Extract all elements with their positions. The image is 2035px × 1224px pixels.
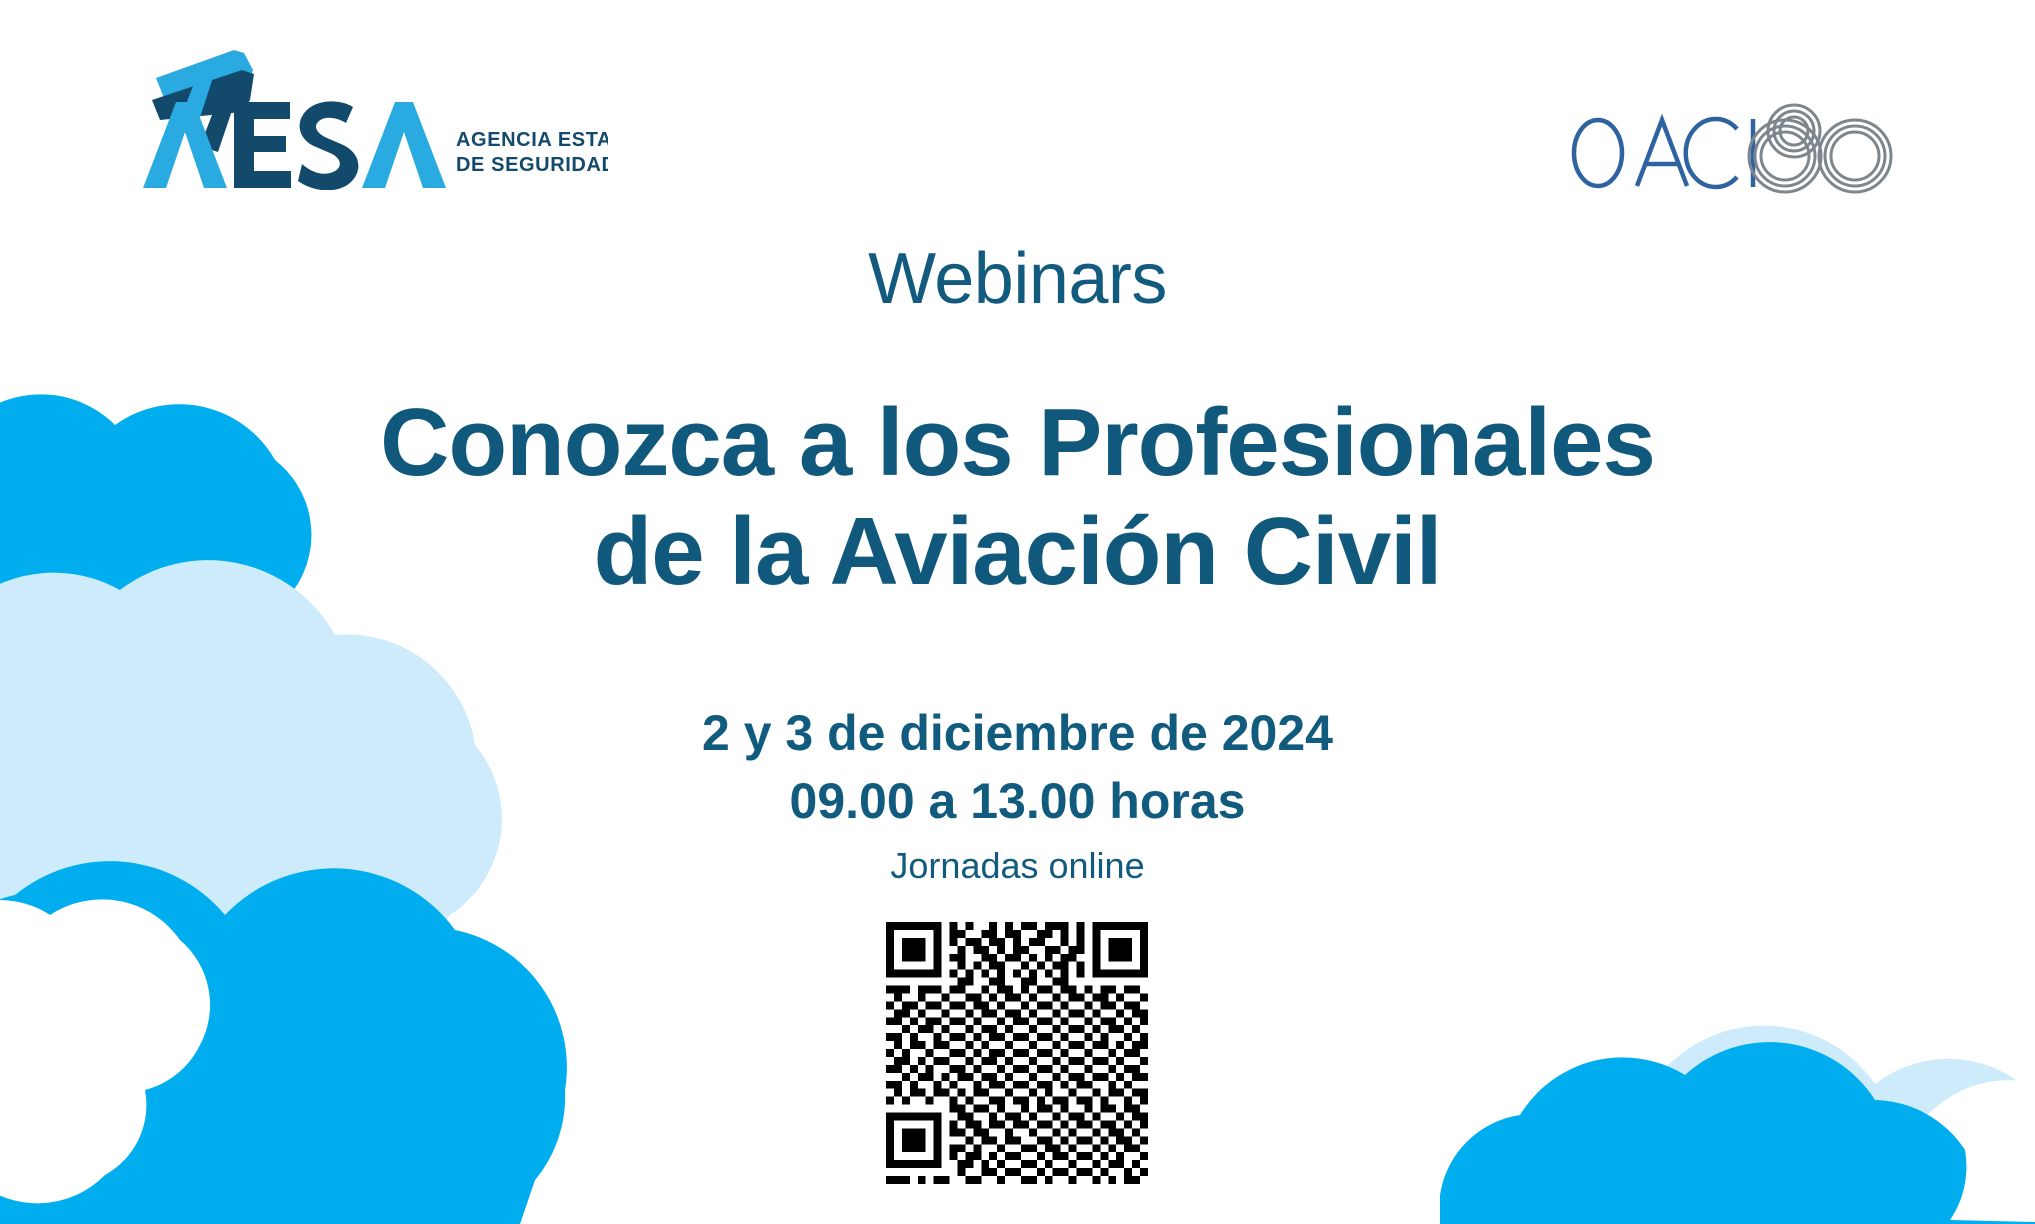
webinar-poster: AGENCIA ESTATAL DE SEGURIDAD AÉREA Webin… bbox=[0, 0, 2035, 1224]
page-title: Conozca a los Profesionales de la Aviaci… bbox=[0, 388, 2035, 607]
event-time: 09.00 a 13.00 horas bbox=[0, 768, 2035, 836]
aesa-tagline-line1: AGENCIA ESTATAL bbox=[456, 129, 608, 151]
page-title-line2: de la Aviación Civil bbox=[0, 497, 2035, 606]
event-schedule: 2 y 3 de diciembre de 2024 09.00 a 13.00… bbox=[0, 700, 2035, 835]
aesa-logo: AGENCIA ESTATAL DE SEGURIDAD AÉREA bbox=[138, 40, 608, 190]
cloud-right-blue bbox=[1440, 1042, 2035, 1224]
eyebrow-webinars: Webinars bbox=[0, 243, 2035, 315]
cloud-right-white bbox=[1897, 1080, 2035, 1224]
aesa-wordmark bbox=[143, 101, 446, 190]
oaci-80-anniversary-icon bbox=[1749, 105, 1891, 192]
cloud-left-white bbox=[0, 899, 210, 1224]
cloud-right-pale bbox=[1624, 1026, 2035, 1224]
event-date: 2 y 3 de diciembre de 2024 bbox=[702, 705, 1333, 761]
event-modality: Jornadas online bbox=[0, 848, 2035, 884]
qr-code-image[interactable] bbox=[886, 922, 1148, 1184]
registration-qr-code[interactable] bbox=[886, 922, 1148, 1184]
page-title-line1: Conozca a los Profesionales bbox=[380, 389, 1655, 496]
oaci-logo bbox=[1570, 98, 1910, 198]
cloud-left-bottom-blue bbox=[0, 861, 567, 1224]
oaci-wordmark bbox=[1574, 119, 1753, 187]
aesa-tagline-line2: DE SEGURIDAD AÉREA bbox=[456, 153, 608, 176]
